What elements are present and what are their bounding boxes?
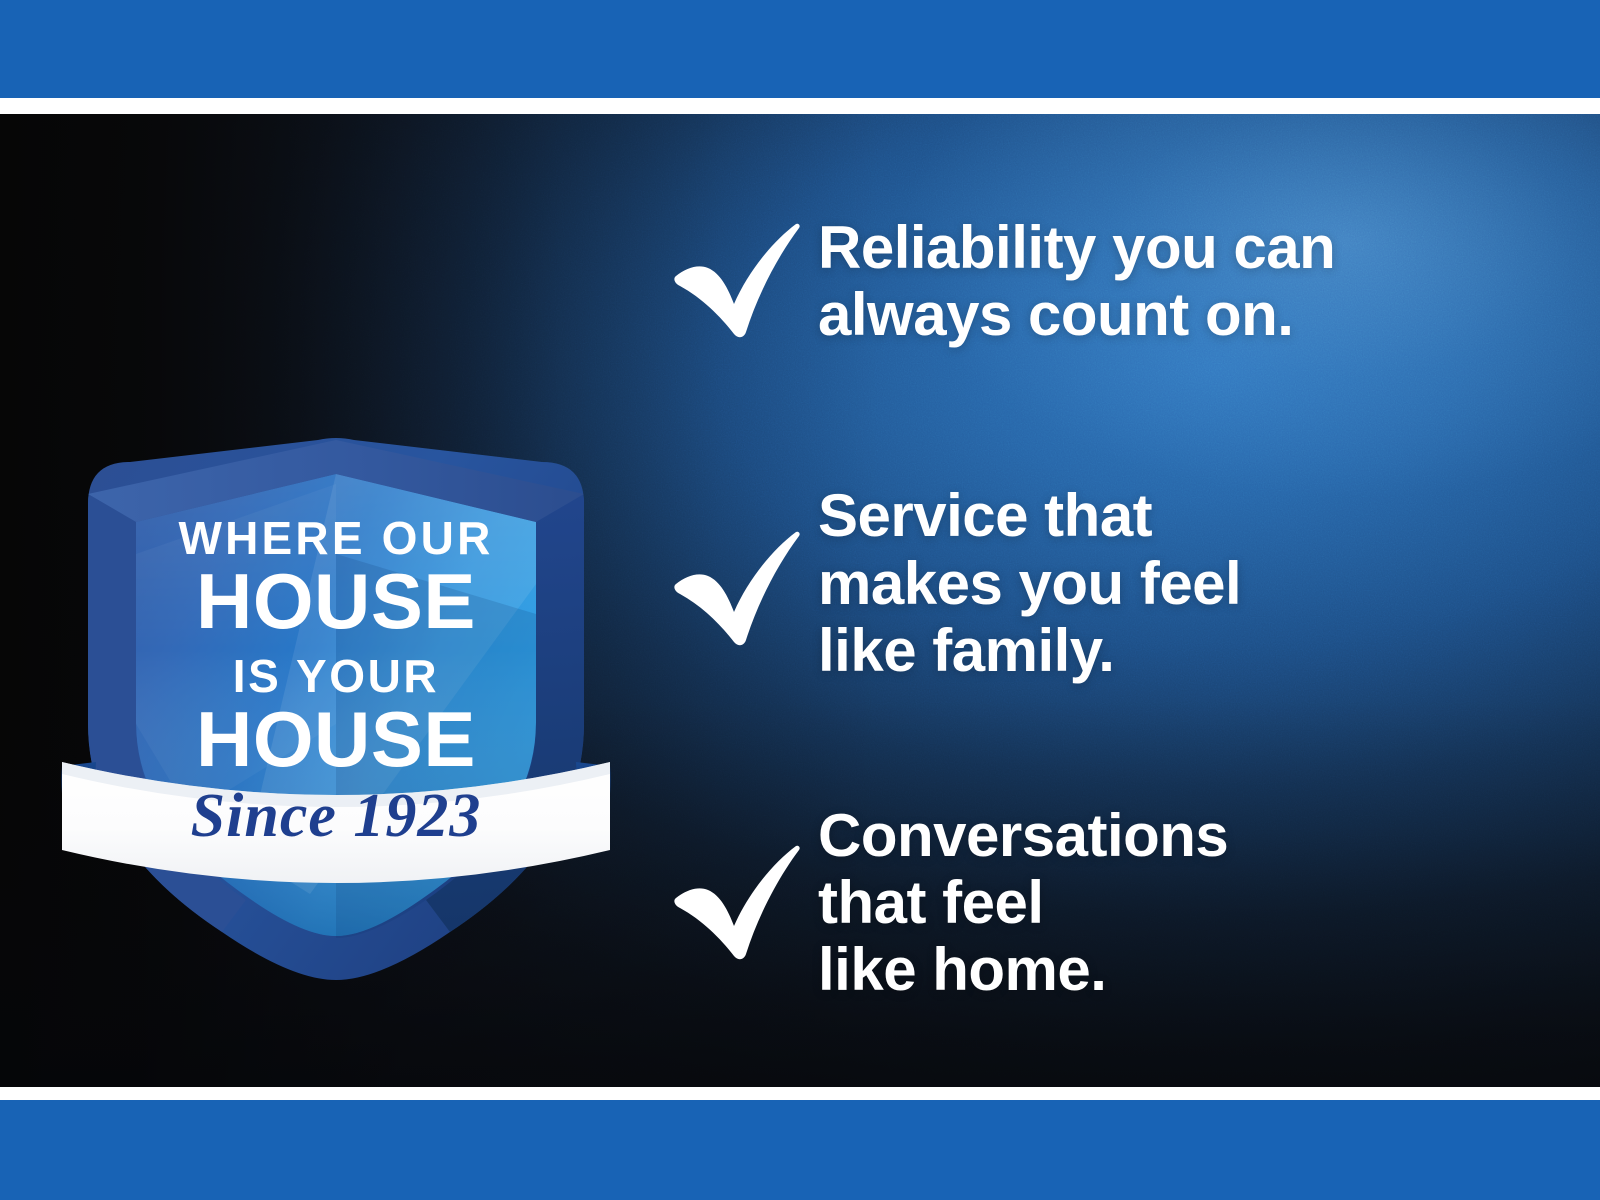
benefit-text: Conversations that feel like home. [818, 802, 1228, 1004]
check-icon [668, 802, 818, 962]
banner-script-text: Since 1923 [191, 782, 482, 850]
benefit-text: Service that makes you feel like family. [818, 482, 1241, 684]
emblem-line-2: HOUSE [196, 557, 476, 645]
emblem-line-4: HOUSE [196, 695, 476, 783]
poster-stage: WHERE OUR HOUSE IS YOUR HOUSE Since 1923 [0, 114, 1600, 1087]
bottom-brand-bar [0, 1100, 1600, 1200]
benefits-list: Reliability you can always count on. Ser… [668, 214, 1528, 1004]
shield-emblem: WHERE OUR HOUSE IS YOUR HOUSE Since 1923 [40, 254, 660, 934]
check-icon [668, 482, 818, 648]
promo-poster: WHERE OUR HOUSE IS YOUR HOUSE Since 1923 [0, 0, 1600, 1200]
benefit-item-reliability: Reliability you can always count on. [668, 214, 1528, 348]
benefit-item-conversations: Conversations that feel like home. [668, 802, 1528, 1004]
benefit-item-service: Service that makes you feel like family. [668, 482, 1528, 684]
top-brand-bar [0, 0, 1600, 98]
benefit-text: Reliability you can always count on. [818, 214, 1335, 348]
check-icon [668, 214, 818, 340]
